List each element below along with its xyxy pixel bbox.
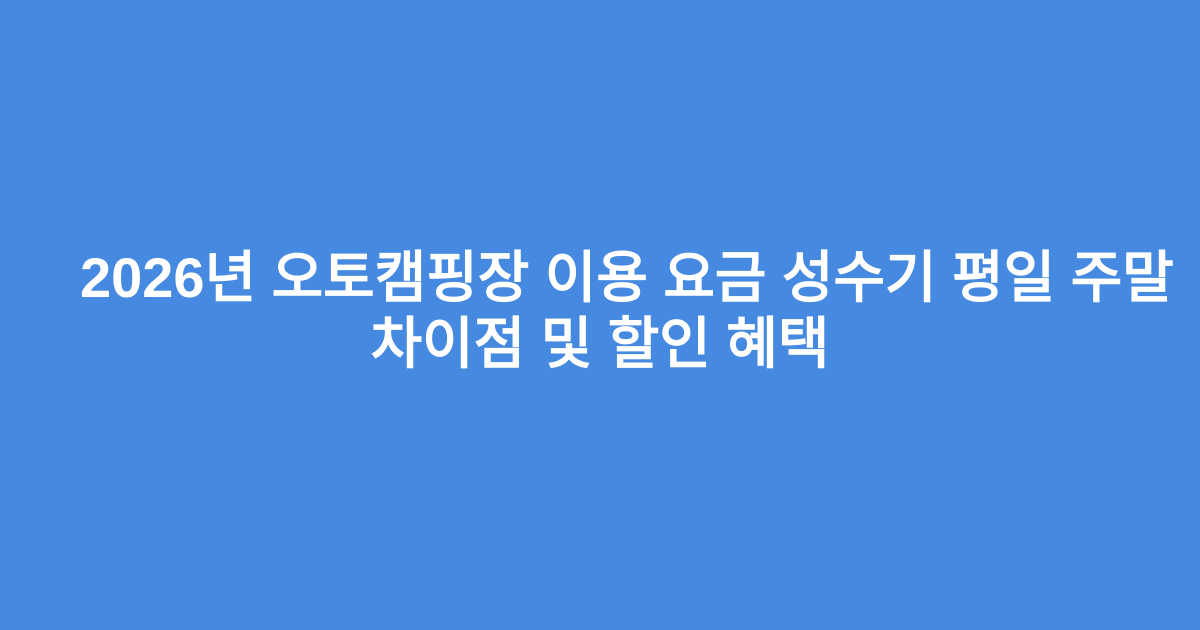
title-line-2: 차이점 및 할인 혜택 xyxy=(80,311,1120,377)
page-title: 2026년 오토캠핑장 이용 요금 성수기 평일 주말 차이점 및 할인 혜택 xyxy=(80,245,1120,377)
title-line-1: 2026년 오토캠핑장 이용 요금 성수기 평일 주말 xyxy=(80,245,1120,311)
thumbnail-card: 2026년 오토캠핑장 이용 요금 성수기 평일 주말 차이점 및 할인 혜택 xyxy=(0,0,1200,630)
